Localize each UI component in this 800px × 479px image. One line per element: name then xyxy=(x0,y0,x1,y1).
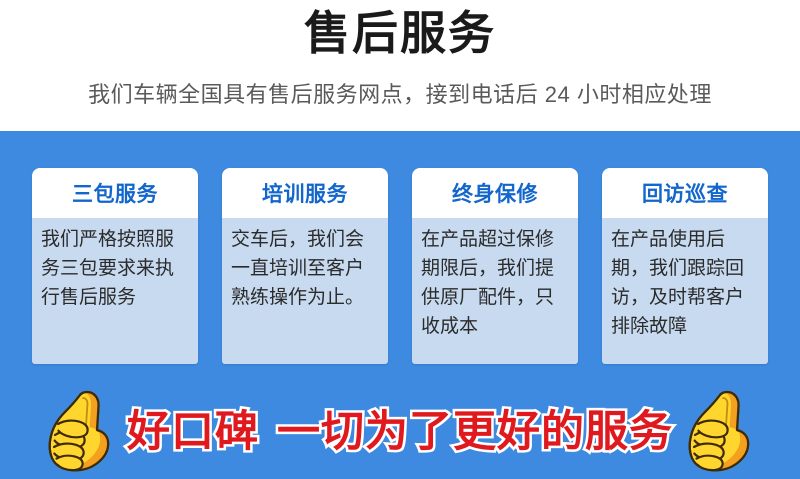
slogan-banner: 好口碑一切为了更好的服务 xyxy=(0,380,800,479)
blue-content-band: 三包服务 我们严格按照服务三包要求来执行售后服务 培训服务 交车后，我们会一直培… xyxy=(0,131,800,479)
service-card-header: 终身保修 xyxy=(412,168,578,218)
service-card-body: 我们严格按照服务三包要求来执行售后服务 xyxy=(32,218,198,364)
slogan-text-part1: 好口碑 xyxy=(127,408,259,456)
slogan-text-part2: 一切为了更好的服务 xyxy=(277,408,673,456)
header-section: 售后服务 我们车辆全国具有售后服务网点，接到电话后 24 小时相应处理 xyxy=(0,0,800,131)
service-card-body: 交车后，我们会一直培训至客户熟练操作为止。 xyxy=(222,218,388,364)
service-card[interactable]: 培训服务 交车后，我们会一直培训至客户熟练操作为止。 xyxy=(222,168,388,364)
thumbs-up-icon xyxy=(683,386,757,474)
page-title: 售后服务 xyxy=(0,2,800,64)
page-subtitle: 我们车辆全国具有售后服务网点，接到电话后 24 小时相应处理 xyxy=(0,78,800,112)
service-card-header: 三包服务 xyxy=(32,168,198,218)
service-card-body: 在产品使用后期，我们跟踪回访，及时帮客户排除故障 xyxy=(602,218,768,364)
slogan-text: 好口碑一切为了更好的服务 xyxy=(127,397,673,463)
service-card-title: 终身保修 xyxy=(452,178,538,208)
service-card-header: 培训服务 xyxy=(222,168,388,218)
thumbs-up-icon xyxy=(43,386,117,474)
service-card-header: 回访巡查 xyxy=(602,168,768,218)
service-card[interactable]: 三包服务 我们严格按照服务三包要求来执行售后服务 xyxy=(32,168,198,364)
service-card-row: 三包服务 我们严格按照服务三包要求来执行售后服务 培训服务 交车后，我们会一直培… xyxy=(32,168,768,364)
service-card-body: 在产品超过保修期限后，我们提供原厂配件，只收成本 xyxy=(412,218,578,364)
page-root: 售后服务 我们车辆全国具有售后服务网点，接到电话后 24 小时相应处理 三包服务… xyxy=(0,0,800,479)
service-card[interactable]: 回访巡查 在产品使用后期，我们跟踪回访，及时帮客户排除故障 xyxy=(602,168,768,364)
service-card-title: 三包服务 xyxy=(72,178,158,208)
service-card[interactable]: 终身保修 在产品超过保修期限后，我们提供原厂配件，只收成本 xyxy=(412,168,578,364)
service-card-title: 培训服务 xyxy=(262,178,348,208)
service-card-title: 回访巡查 xyxy=(642,178,728,208)
